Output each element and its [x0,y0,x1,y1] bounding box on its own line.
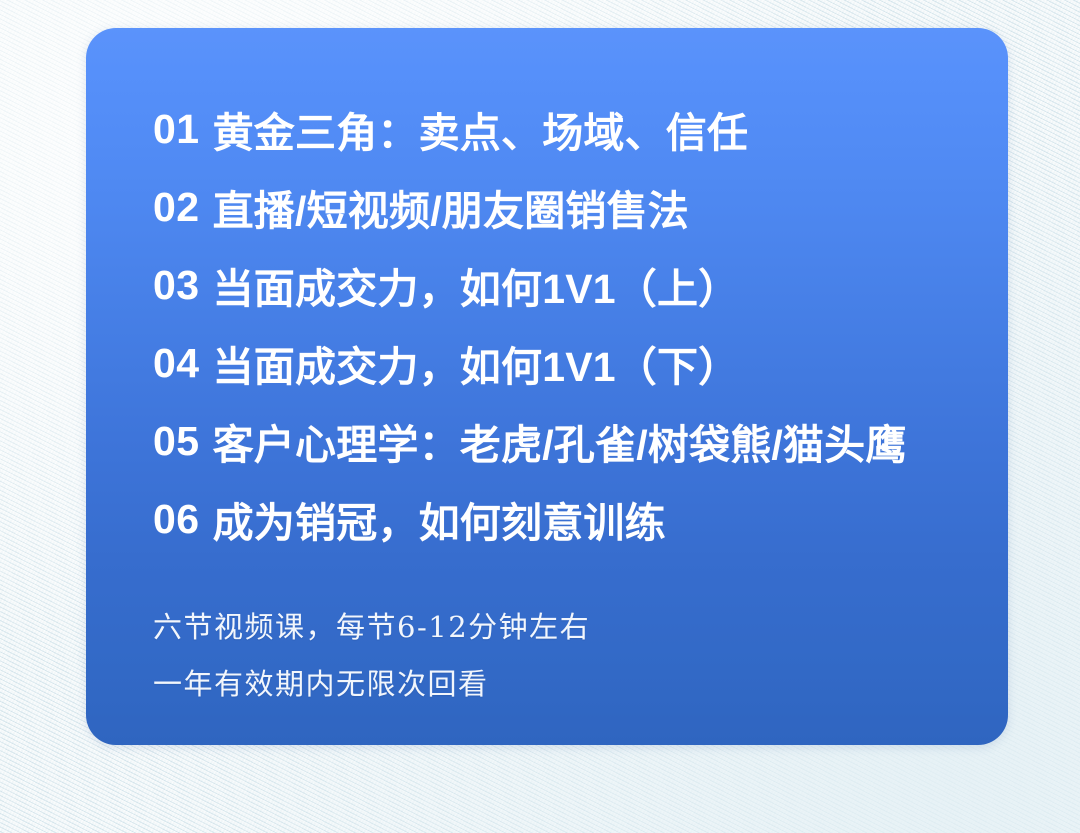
poster-canvas: 01 黄金三角：卖点、场域、信任 02 直播/短视频/朋友圈销售法 03 当面成… [0,0,1080,833]
lesson-list: 01 黄金三角：卖点、场域、信任 02 直播/短视频/朋友圈销售法 03 当面成… [153,90,998,558]
lesson-index: 06 [153,496,200,543]
lesson-title: 直播/短视频/朋友圈销售法 [213,177,689,237]
footnote-validity: 一年有效期内无限次回看 [153,656,590,713]
lesson-item-06[interactable]: 06 成为销冠，如何刻意训练 [153,480,998,558]
lesson-title: 成为销冠，如何刻意训练 [213,489,666,549]
lesson-index: 05 [153,418,200,465]
lesson-index: 04 [153,340,200,387]
lesson-item-02[interactable]: 02 直播/短视频/朋友圈销售法 [153,168,998,246]
footnote-duration: 六节视频课，每节6-12分钟左右 [153,599,590,656]
lesson-title: 客户心理学：老虎/孔雀/树袋熊/猫头鹰 [213,411,907,471]
course-outline-card: 01 黄金三角：卖点、场域、信任 02 直播/短视频/朋友圈销售法 03 当面成… [86,28,1008,745]
lesson-index: 02 [153,184,200,231]
lesson-item-01[interactable]: 01 黄金三角：卖点、场域、信任 [153,90,998,168]
lesson-item-03[interactable]: 03 当面成交力，如何1V1（上） [153,246,998,324]
lesson-index: 01 [153,106,200,153]
lesson-title: 黄金三角：卖点、场域、信任 [213,99,749,159]
lesson-index: 03 [153,262,200,309]
lesson-item-04[interactable]: 04 当面成交力，如何1V1（下） [153,324,998,402]
lesson-title: 当面成交力，如何1V1（上） [213,255,740,315]
course-footnotes: 六节视频课，每节6-12分钟左右 一年有效期内无限次回看 [153,599,590,713]
lesson-title: 当面成交力，如何1V1（下） [213,333,740,393]
lesson-item-05[interactable]: 05 客户心理学：老虎/孔雀/树袋熊/猫头鹰 [153,402,998,480]
